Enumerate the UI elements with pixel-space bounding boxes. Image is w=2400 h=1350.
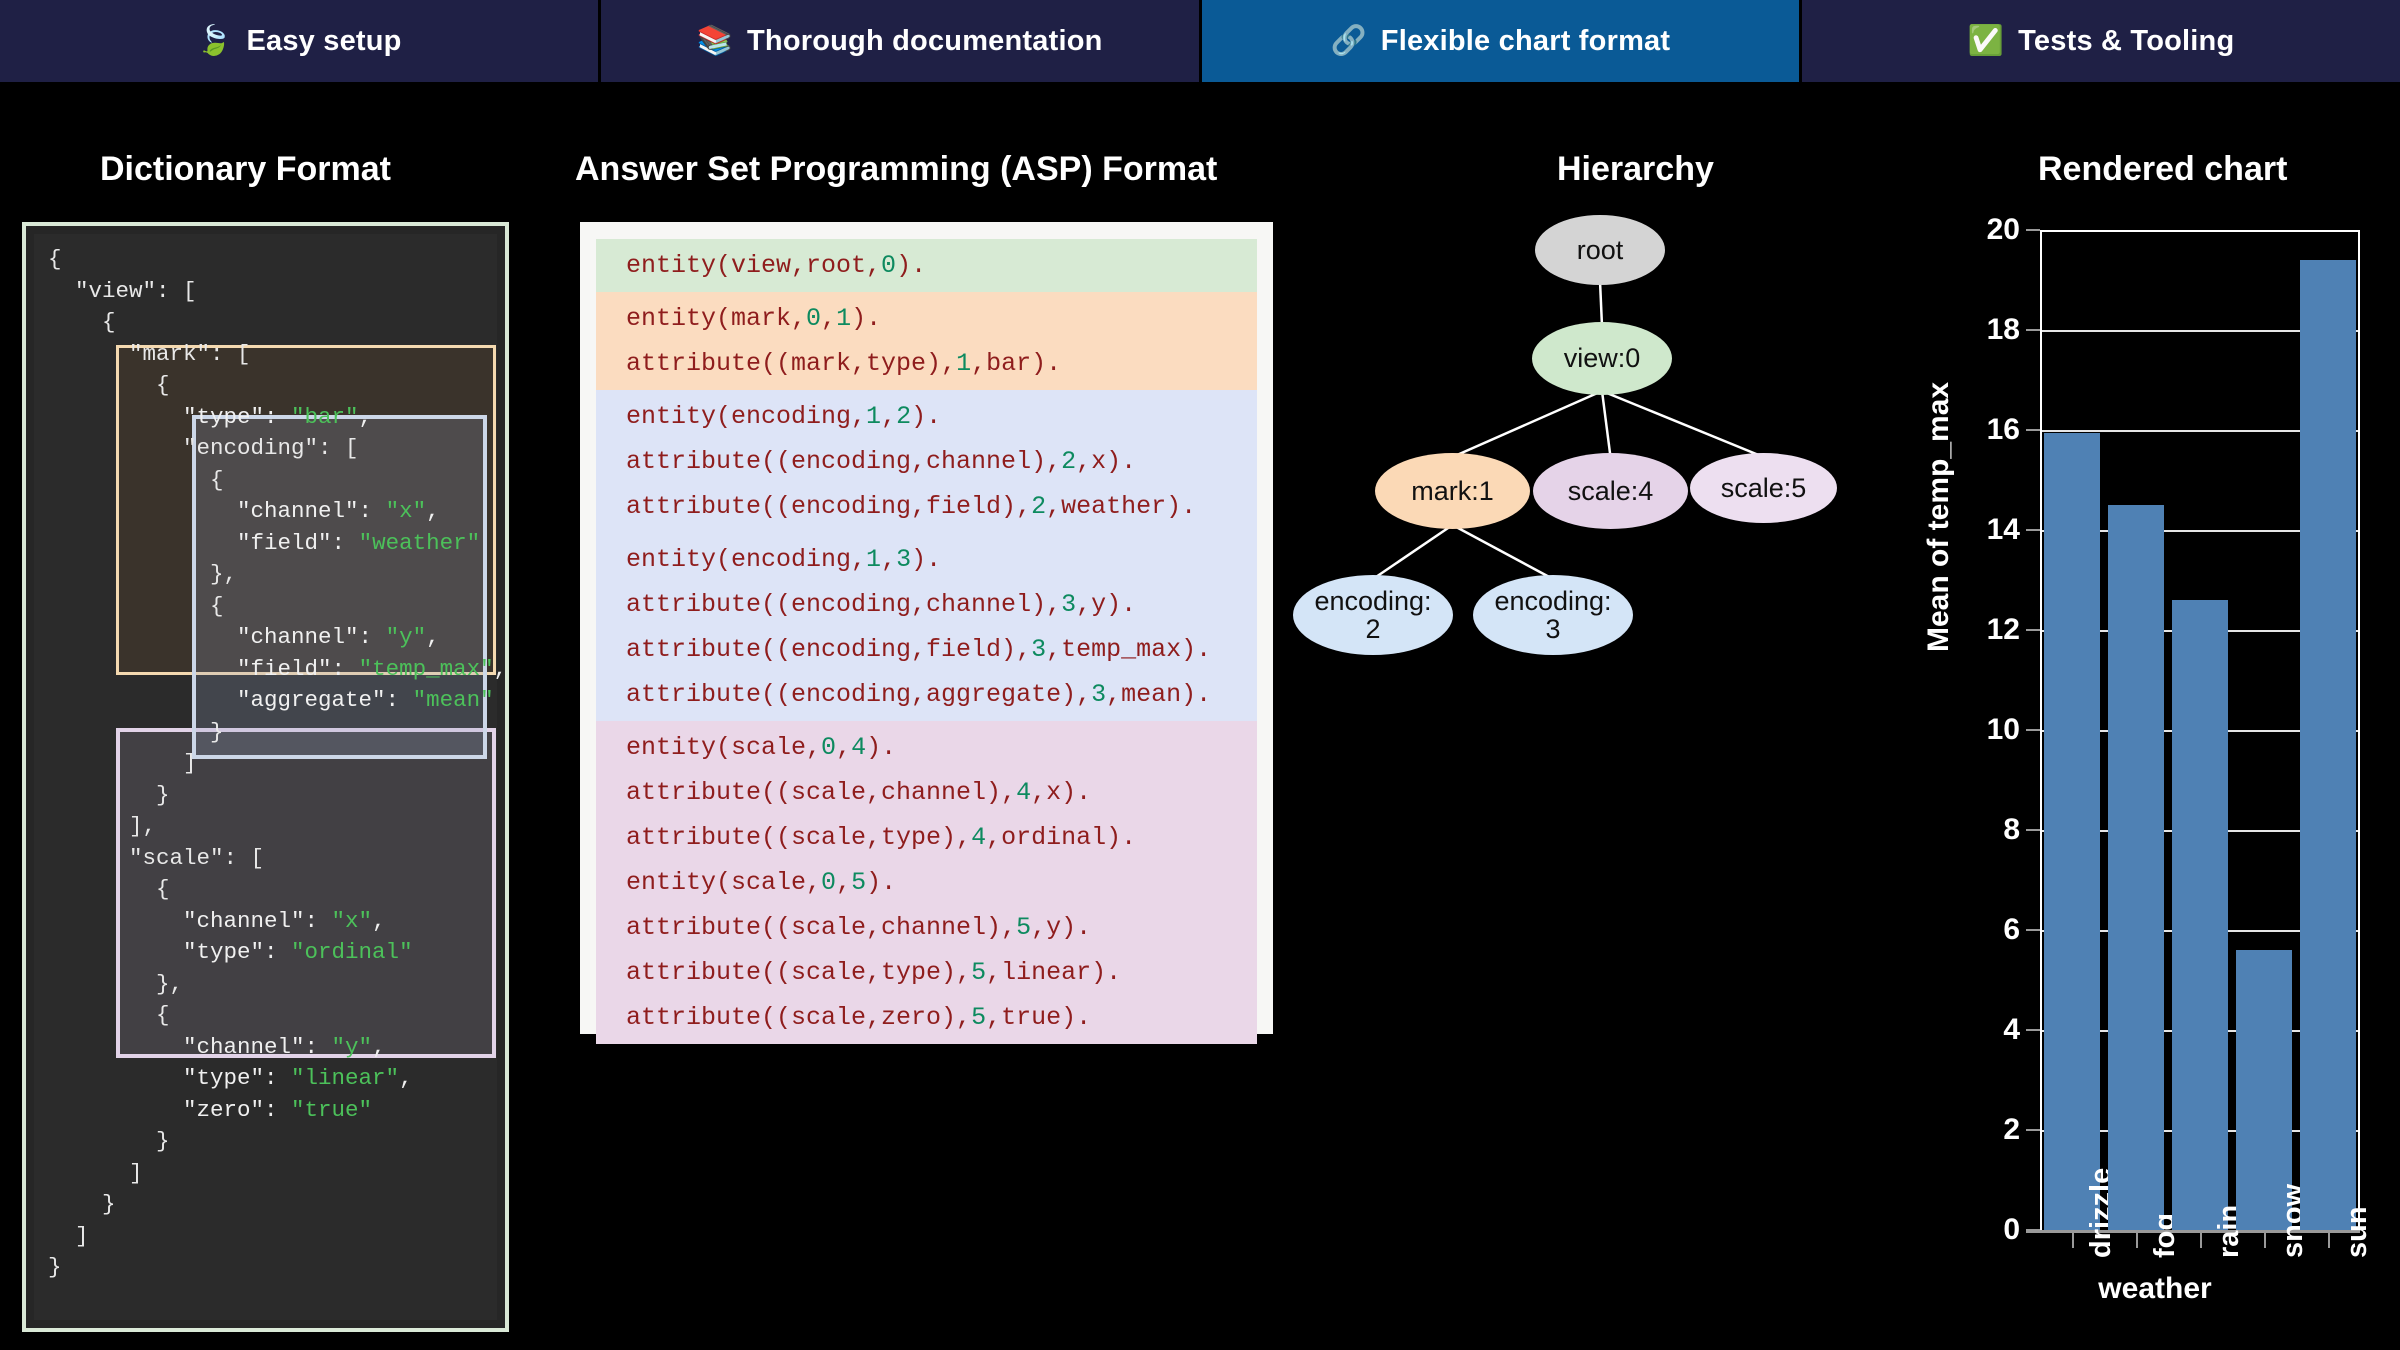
chart-y-tick-label: 8 (1945, 813, 2020, 847)
dictionary-code-line: "channel": "y", (34, 1032, 497, 1064)
dict-key: "channel": (48, 624, 386, 650)
chart-x-tick-mark (2264, 1230, 2266, 1248)
chart-y-tick-mark (2026, 829, 2040, 831)
tab-easy-setup[interactable]: 🍃 Easy setup (0, 0, 601, 82)
hierarchy-node-encoding2[interactable]: encoding:2 (1293, 575, 1453, 655)
chart-y-tick-label: 20 (1945, 213, 2020, 247)
dict-punct: , (426, 498, 440, 524)
tab-tests-and-tooling[interactable]: ✅ Tests & Tooling (1802, 0, 2400, 82)
chart-y-tick-mark (2026, 729, 2040, 731)
hierarchy-edge (1602, 391, 1764, 457)
dictionary-code-line: "field": "weather" (34, 528, 497, 560)
asp-block-view: entity(view,root,0). (596, 239, 1257, 292)
asp-code-line: entity(scale,0,4). (596, 725, 1257, 770)
chart-y-tick-mark (2026, 1129, 2040, 1131)
hierarchy-node-label: 2 (1365, 615, 1380, 643)
tab-label: Easy setup (246, 25, 401, 58)
hierarchy-node-encoding3[interactable]: encoding:3 (1473, 575, 1633, 655)
dict-value: "linear" (291, 1065, 399, 1091)
hierarchy-node-label: scale:4 (1568, 477, 1654, 505)
hierarchy-node-label: 3 (1545, 615, 1560, 643)
chart-bar[interactable] (2108, 505, 2164, 1230)
dictionary-code-line: "type": "bar", (34, 402, 497, 434)
asp-code-line: attribute((encoding,field),3,temp_max). (596, 627, 1257, 672)
hierarchy-node-label: encoding: (1314, 587, 1431, 615)
dictionary-code-line: } (34, 1252, 497, 1284)
dictionary-code-line: "mark": [ (34, 339, 497, 371)
hierarchy-edge (1600, 281, 1602, 326)
asp-code-line: attribute((scale,channel),4,x). (596, 770, 1257, 815)
dict-key: "type": (48, 1065, 291, 1091)
asp-format-panel: entity(view,root,0).entity(mark,0,1).att… (580, 222, 1273, 1034)
link-icon: 🔗 (1330, 27, 1366, 56)
heading-asp-format: Answer Set Programming (ASP) Format (575, 150, 1217, 189)
leaf-icon: 🍃 (196, 27, 232, 56)
hierarchy-edge (1453, 391, 1603, 457)
heading-dictionary-format: Dictionary Format (100, 150, 391, 189)
dictionary-code-line: "type": "linear", (34, 1063, 497, 1095)
dict-value: "x" (386, 498, 427, 524)
dictionary-code-line: ] (34, 1221, 497, 1253)
dictionary-code-line: ], (34, 811, 497, 843)
dictionary-code-block: { "view": [ { "mark": [ { "type": "bar",… (34, 234, 497, 1320)
dict-key: "field": (48, 656, 359, 682)
dictionary-code-line: "encoding": [ (34, 433, 497, 465)
chart-y-tick-label: 14 (1945, 513, 2020, 547)
dict-value: "x" (332, 908, 373, 934)
asp-code-line: attribute((scale,zero),5,true). (596, 995, 1257, 1040)
chart-x-tick-label: sun (2341, 1206, 2374, 1258)
books-icon: 📚 (697, 27, 733, 56)
hierarchy-node-root[interactable]: root (1535, 215, 1665, 285)
dictionary-code-line: { (34, 370, 497, 402)
asp-block-mark: entity(mark,0,1).attribute((mark,type),1… (596, 292, 1257, 390)
dict-value: "weather" (359, 530, 481, 556)
dict-key: "channel": (48, 908, 332, 934)
chart-x-tick-mark (2072, 1230, 2074, 1248)
heading-hierarchy: Hierarchy (1557, 150, 1714, 189)
dictionary-code-line: { (34, 307, 497, 339)
asp-code-line: attribute((encoding,aggregate),3,mean). (596, 672, 1257, 717)
hierarchy-node-label: root (1577, 236, 1624, 264)
hierarchy-edge (1453, 525, 1554, 579)
hierarchy-edge (1602, 391, 1611, 457)
tab-label: Tests & Tooling (2018, 25, 2234, 58)
asp-block-scale: entity(scale,0,4).attribute((scale,chann… (596, 721, 1257, 1044)
asp-code-line: attribute((scale,channel),5,y). (596, 905, 1257, 950)
dictionary-code-line: }, (34, 969, 497, 1001)
dict-value: "y" (386, 624, 427, 650)
dict-value: "temp_max" (359, 656, 494, 682)
hierarchy-node-label: mark:1 (1411, 477, 1494, 505)
dictionary-code-line: "view": [ (34, 276, 497, 308)
chart-y-tick-mark (2026, 929, 2040, 931)
dict-key: "channel": (48, 1034, 332, 1060)
dict-punct: , (359, 404, 373, 430)
dictionary-code-line: } (34, 1126, 497, 1158)
dictionary-code-line: "zero": "true" (34, 1095, 497, 1127)
hierarchy-node-view0[interactable]: view:0 (1532, 322, 1672, 395)
chart-y-tick-mark (2026, 1029, 2040, 1031)
tab-label: Thorough documentation (747, 25, 1103, 58)
asp-code-line: attribute((encoding,channel),2,x). (596, 439, 1257, 484)
dictionary-code-lines: { "view": [ { "mark": [ { "type": "bar",… (34, 244, 497, 1284)
asp-block-encoding: entity(encoding,1,2).attribute((encoding… (596, 390, 1257, 533)
dictionary-code-line: ] (34, 748, 497, 780)
hierarchy-node-label: encoding: (1494, 587, 1611, 615)
tab-thorough-documentation[interactable]: 📚 Thorough documentation (601, 0, 1202, 82)
hierarchy-node-label: scale:5 (1721, 474, 1807, 502)
dictionary-code-line: ] (34, 1158, 497, 1190)
chart-y-tick-label: 18 (1945, 313, 2020, 347)
dict-value: "bar" (291, 404, 359, 430)
chart-y-tick-label: 12 (1945, 613, 2020, 647)
dict-value: "y" (332, 1034, 373, 1060)
chart-x-tick-mark (2200, 1230, 2202, 1248)
dict-key: "aggregate": (48, 687, 413, 713)
dictionary-code-line: }, (34, 559, 497, 591)
asp-code-line: attribute((encoding,channel),3,y). (596, 582, 1257, 627)
chart-y-tick-label: 2 (1945, 1113, 2020, 1147)
chart-x-tick-mark (2136, 1230, 2138, 1248)
chart-y-tick-label: 10 (1945, 713, 2020, 747)
asp-code-line: entity(mark,0,1). (596, 296, 1257, 341)
hierarchy-node-scale5[interactable]: scale:5 (1690, 453, 1837, 523)
heading-rendered-chart: Rendered chart (2038, 150, 2287, 189)
chart-y-tick-label: 16 (1945, 413, 2020, 447)
chart-bar[interactable] (2044, 433, 2100, 1231)
dictionary-code-line: { (34, 244, 497, 276)
dictionary-code-line: "channel": "x", (34, 496, 497, 528)
hierarchy-node-mark1[interactable]: mark:1 (1375, 453, 1530, 529)
dictionary-code-line: } (34, 717, 497, 749)
chart-bar[interactable] (2300, 260, 2356, 1230)
dictionary-code-line: "channel": "y", (34, 622, 497, 654)
tab-label: Flexible chart format (1381, 25, 1670, 58)
dictionary-code-line: "field": "temp_max", (34, 654, 497, 686)
chart-y-tick-label: 4 (1945, 1013, 2020, 1047)
hierarchy-diagram: rootview:0mark:1scale:4scale:5encoding:2… (1290, 215, 1900, 645)
chart-y-tick-label: 0 (1945, 1213, 2020, 1247)
dict-punct: , (372, 908, 386, 934)
dict-punct: , (426, 624, 440, 650)
dictionary-code-line: { (34, 874, 497, 906)
chart-y-tick-mark (2026, 329, 2040, 331)
asp-code-line: entity(view,root,0). (596, 243, 1257, 288)
asp-code-line: entity(encoding,1,2). (596, 394, 1257, 439)
chart-y-tick-mark (2026, 429, 2040, 431)
asp-block-encoding: entity(encoding,1,3).attribute((encoding… (596, 533, 1257, 721)
asp-code-line: entity(encoding,1,3). (596, 537, 1257, 582)
dict-value: "ordinal" (291, 939, 413, 965)
dictionary-code-line: "scale": [ (34, 843, 497, 875)
chart-y-tick-mark (2026, 229, 2040, 231)
asp-code-line: entity(scale,0,5). (596, 860, 1257, 905)
dictionary-format-panel: { "view": [ { "mark": [ { "type": "bar",… (22, 222, 509, 1332)
dict-key: "type": (48, 939, 291, 965)
chart-x-tick-mark (2328, 1230, 2330, 1248)
hierarchy-edge (1373, 525, 1453, 579)
dictionary-code-line: } (34, 780, 497, 812)
chart-y-tick-label: 6 (1945, 913, 2020, 947)
dict-key: "channel": (48, 498, 386, 524)
check-mark-button-icon: ✅ (1968, 27, 2004, 56)
dict-punct: , (399, 1065, 413, 1091)
dict-value: "true" (291, 1097, 372, 1123)
tab-flexible-chart-format[interactable]: 🔗 Flexible chart format (1202, 0, 1803, 82)
dictionary-code-line: "channel": "x", (34, 906, 497, 938)
chart-x-axis-label: weather (1930, 1272, 2380, 1306)
dict-punct: , (494, 656, 508, 682)
hierarchy-node-scale4[interactable]: scale:4 (1533, 453, 1688, 529)
feature-tab-bar: 🍃 Easy setup 📚 Thorough documentation 🔗 … (0, 0, 2400, 82)
page-root: 🍃 Easy setup 📚 Thorough documentation 🔗 … (0, 0, 2400, 1350)
tab-bar-divider (0, 82, 2400, 88)
dict-punct: , (372, 1034, 386, 1060)
rendered-chart: Mean of temp_max weather 024681012141618… (1930, 222, 2380, 1332)
hierarchy-node-label: view:0 (1564, 344, 1641, 372)
dictionary-code-line: "aggregate": "mean" (34, 685, 497, 717)
dictionary-code-line: { (34, 1000, 497, 1032)
asp-code-line: attribute((mark,type),1,bar). (596, 341, 1257, 386)
dict-key: "type": (48, 404, 291, 430)
asp-code-line: attribute((scale,type),5,linear). (596, 950, 1257, 995)
dictionary-code-line: } (34, 1189, 497, 1221)
asp-code-line: attribute((scale,type),4,ordinal). (596, 815, 1257, 860)
dict-key: "field": (48, 530, 359, 556)
asp-code-lines: entity(view,root,0).entity(mark,0,1).att… (596, 239, 1257, 1044)
dictionary-code-line: "type": "ordinal" (34, 937, 497, 969)
dict-key: "zero": (48, 1097, 291, 1123)
chart-y-tick-mark (2026, 629, 2040, 631)
dictionary-code-line: { (34, 465, 497, 497)
chart-y-tick-mark (2026, 529, 2040, 531)
dict-value: "mean" (413, 687, 494, 713)
asp-code-line: attribute((encoding,field),2,weather). (596, 484, 1257, 529)
chart-bar[interactable] (2172, 600, 2228, 1230)
dictionary-code-line: { (34, 591, 497, 623)
